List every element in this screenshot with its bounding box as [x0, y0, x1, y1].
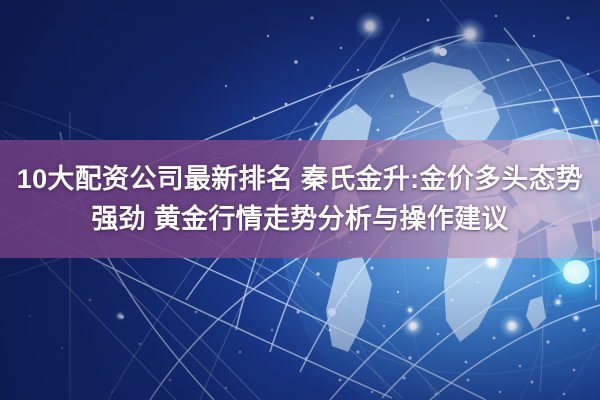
- banner-title-line-1: 10大配资公司最新排名 秦氏金升:金价多头态势: [0, 159, 600, 199]
- banner-image: 10大配资公司最新排名 秦氏金升:金价多头态势 强劲 黄金行情走势分析与操作建议: [0, 0, 600, 400]
- banner-title: 10大配资公司最新排名 秦氏金升:金价多头态势 强劲 黄金行情走势分析与操作建议: [0, 159, 600, 239]
- banner-title-line-2: 强劲 黄金行情走势分析与操作建议: [0, 199, 600, 239]
